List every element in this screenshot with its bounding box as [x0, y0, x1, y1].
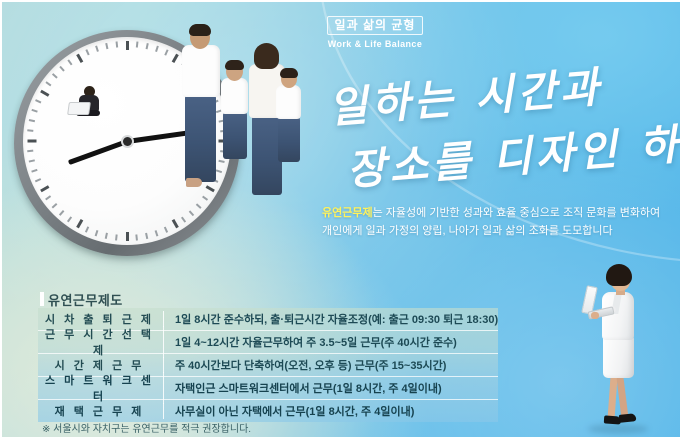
clock-tick — [86, 49, 90, 55]
badge-korean-label: 일과 삶의 균형 — [327, 16, 424, 35]
family-photo-figures — [178, 26, 294, 216]
badge-english-label: Work & Life Balance — [315, 39, 435, 49]
clock-tick — [105, 43, 108, 49]
clock-tick — [27, 150, 33, 152]
clock-tick — [27, 130, 33, 132]
table-row-desc: 주 40시간보다 단축하여(오전, 오후 등) 근무(주 15~35시간) — [164, 357, 498, 373]
clock-tick — [52, 203, 57, 208]
clock-tick — [40, 185, 49, 192]
clock-tick — [95, 46, 98, 52]
clock-tick — [60, 210, 65, 215]
clock-tick — [32, 109, 38, 112]
businesswoman-with-laptop-figure — [586, 264, 656, 439]
clock-tick — [46, 82, 52, 87]
clock-tick — [182, 217, 187, 223]
clock-tick — [27, 140, 36, 143]
table-heading: 유연근무제도 — [40, 290, 123, 309]
description-highlight-term: 유연근무제 — [322, 207, 373, 219]
clock-tick — [68, 60, 73, 66]
clock-tick — [76, 54, 83, 63]
description-line-1-rest: 는 자율성에 기반한 성과와 효율 중심으로 조직 문화를 변화하여 — [373, 207, 661, 219]
father-jeans — [185, 94, 216, 182]
table-row-desc: 1일 4~12시간 자율근무하여 주 3.5~5일 근무(주 40시간 준수) — [164, 334, 498, 350]
flexible-work-table: 시 차 출 퇴 근 제 1일 8시간 준수하되, 출·퇴근시간 자율조정(예: … — [38, 308, 498, 422]
clock-hour-hand — [68, 139, 128, 165]
table-row-name: 근 무 시 간 선 택 제 — [38, 326, 164, 358]
clock-tick — [52, 74, 57, 79]
clock-tick — [136, 41, 138, 47]
clock-tick — [105, 233, 108, 239]
footnote-text: ※ 서울시와 자치구는 유연근무를 적극 권장합니다. — [42, 420, 251, 435]
clock-tick — [46, 196, 52, 201]
businesswoman-hand — [591, 312, 599, 319]
clock-tick — [136, 234, 138, 240]
table-row-desc: 1일 8시간 준수하되, 출·퇴근시간 자율조정(예: 출근 09:30 퇴근 … — [164, 311, 498, 327]
clock-tick — [35, 100, 41, 104]
father-foot — [186, 178, 202, 187]
clock-tick — [116, 234, 118, 240]
businesswoman-skirt — [603, 336, 634, 378]
table-row-name: 시 차 출 퇴 근 제 — [38, 311, 164, 327]
clock-tick — [29, 160, 35, 163]
clock-tick — [95, 230, 98, 236]
businesswoman-shadow — [588, 424, 648, 434]
child-two-hair — [280, 68, 298, 78]
poster-canvas: 일과 삶의 균형 Work & Life Balance 일하는 시간과 장소를… — [0, 0, 682, 439]
clock-tick — [86, 227, 90, 233]
mother-hair — [254, 43, 279, 69]
clock-tick — [126, 232, 129, 241]
table-row: 근 무 시 간 선 택 제 1일 4~12시간 자율근무하여 주 3.5~5일 … — [38, 331, 498, 354]
child-two-shirt — [276, 85, 301, 119]
table-row-desc: 사무실이 아닌 자택에서 근무(1일 8시간, 주 4일이내) — [164, 403, 498, 419]
clock-tick — [40, 90, 49, 97]
clock-tick — [155, 230, 158, 236]
table-row: 재 택 근 무 제 사무실이 아닌 자택에서 근무(1일 8시간, 주 4일이내… — [38, 400, 498, 422]
header-badge: 일과 삶의 균형 Work & Life Balance — [315, 16, 435, 49]
table-row-name: 스 마 트 워 크 센 터 — [38, 372, 164, 404]
businesswoman-hair — [606, 264, 632, 286]
clock-tick — [116, 41, 118, 47]
clock-tick — [146, 233, 149, 239]
description-line-2: 개인에게 일과 가정의 양립, 나아가 일과 삶의 조화를 도모합니다 — [322, 225, 613, 237]
clock-tick — [68, 217, 73, 223]
table-row-name: 재 택 근 무 제 — [38, 403, 164, 419]
businesswoman-shoe-back — [619, 413, 637, 423]
clock-tick — [126, 41, 129, 50]
clock-center-hub — [123, 137, 132, 146]
child-one-hair — [225, 60, 244, 70]
clock-tick — [155, 46, 158, 52]
father-shirt — [182, 45, 220, 97]
clock-tick — [171, 219, 178, 228]
father-hair — [189, 24, 211, 36]
clock-tick — [146, 43, 149, 49]
businesswoman-leg-front — [607, 376, 617, 420]
child-two-figure — [274, 70, 304, 174]
clock-tick — [165, 227, 169, 233]
table-row: 스 마 트 워 크 센 터 자택인근 스마트워크센터에서 근무(1일 8시간, … — [38, 377, 498, 400]
clock-tick — [165, 49, 169, 55]
table-row-desc: 자택인근 스마트워크센터에서 근무(1일 8시간, 주 4일이내) — [164, 380, 498, 396]
description-paragraph: 유연근무제는 자율성에 기반한 성과와 효율 중심으로 조직 문화를 변화하여 … — [322, 204, 672, 240]
laptop-icon — [67, 102, 91, 115]
clock-tick — [29, 119, 35, 122]
child-two-jeans — [278, 116, 300, 162]
clock-tick — [32, 169, 38, 172]
seated-man-with-laptop-figure — [70, 86, 110, 126]
clock-tick — [60, 66, 65, 71]
table-row-name: 시 간 제 근 무 — [38, 357, 164, 373]
clock-tick — [76, 219, 83, 228]
clock-tick — [35, 179, 41, 183]
